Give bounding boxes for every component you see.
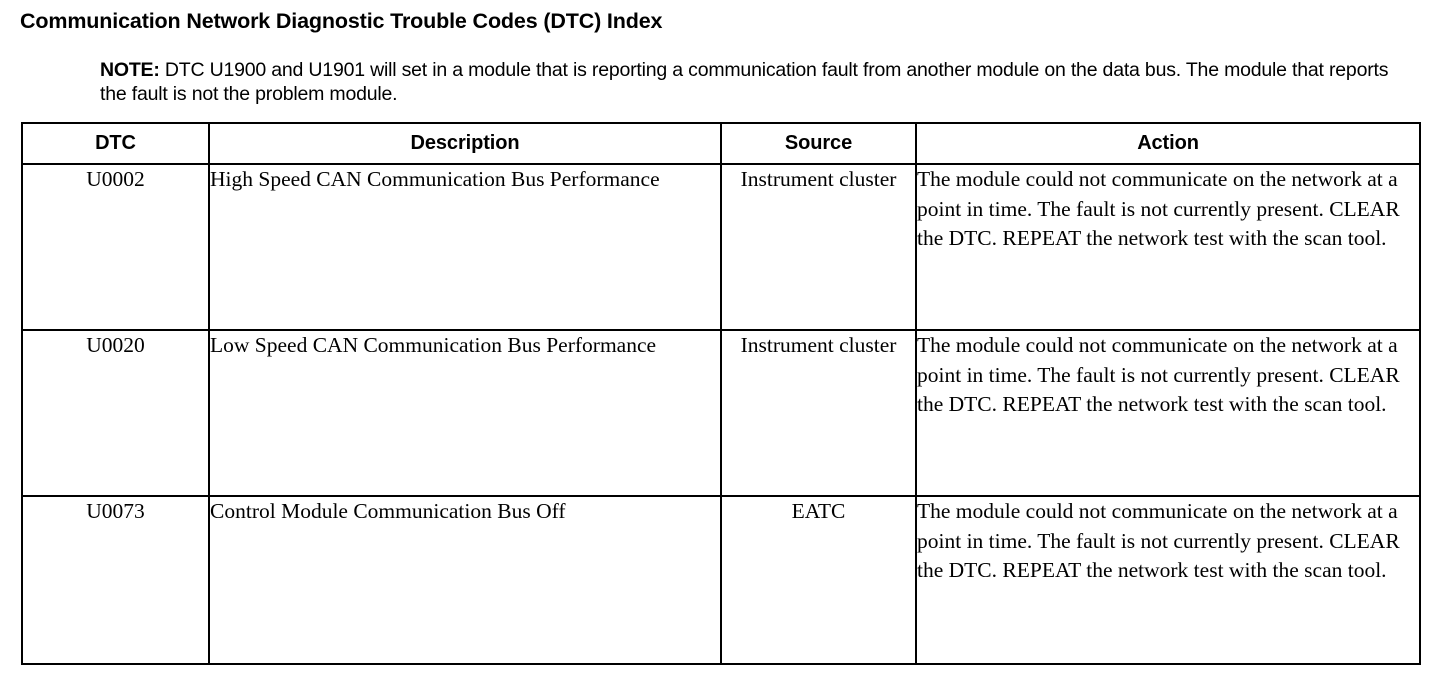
table-header-row: DTC Description Source Action	[22, 123, 1420, 164]
cell-description: Low Speed CAN Communication Bus Performa…	[209, 330, 721, 496]
cell-action: The module could not communicate on the …	[916, 164, 1420, 330]
page-title: Communication Network Diagnostic Trouble…	[20, 8, 662, 35]
dtc-table-container: DTC Description Source Action U0002 High…	[21, 122, 1419, 665]
table-row: U0002 High Speed CAN Communication Bus P…	[22, 164, 1420, 330]
cell-source: EATC	[721, 496, 916, 664]
note-label: NOTE:	[100, 59, 160, 81]
column-header-source: Source	[721, 123, 916, 164]
cell-source: Instrument cluster	[721, 164, 916, 330]
table-row: U0020 Low Speed CAN Communication Bus Pe…	[22, 330, 1420, 496]
column-header-dtc: DTC	[22, 123, 209, 164]
cell-description: Control Module Communication Bus Off	[209, 496, 721, 664]
cell-source: Instrument cluster	[721, 330, 916, 496]
cell-dtc-code: U0073	[22, 496, 209, 664]
cell-dtc-code: U0020	[22, 330, 209, 496]
dtc-index-table: DTC Description Source Action U0002 High…	[21, 122, 1421, 665]
cell-description: High Speed CAN Communication Bus Perform…	[209, 164, 721, 330]
cell-dtc-code: U0002	[22, 164, 209, 330]
column-header-action: Action	[916, 123, 1420, 164]
cell-action: The module could not communicate on the …	[916, 330, 1420, 496]
note-text: DTC U1900 and U1901 will set in a module…	[100, 59, 1388, 105]
table-header: DTC Description Source Action	[22, 123, 1420, 164]
table-body: U0002 High Speed CAN Communication Bus P…	[22, 164, 1420, 664]
column-header-description: Description	[209, 123, 721, 164]
note-block: NOTE: DTC U1900 and U1901 will set in a …	[100, 58, 1390, 106]
cell-action: The module could not communicate on the …	[916, 496, 1420, 664]
table-row: U0073 Control Module Communication Bus O…	[22, 496, 1420, 664]
